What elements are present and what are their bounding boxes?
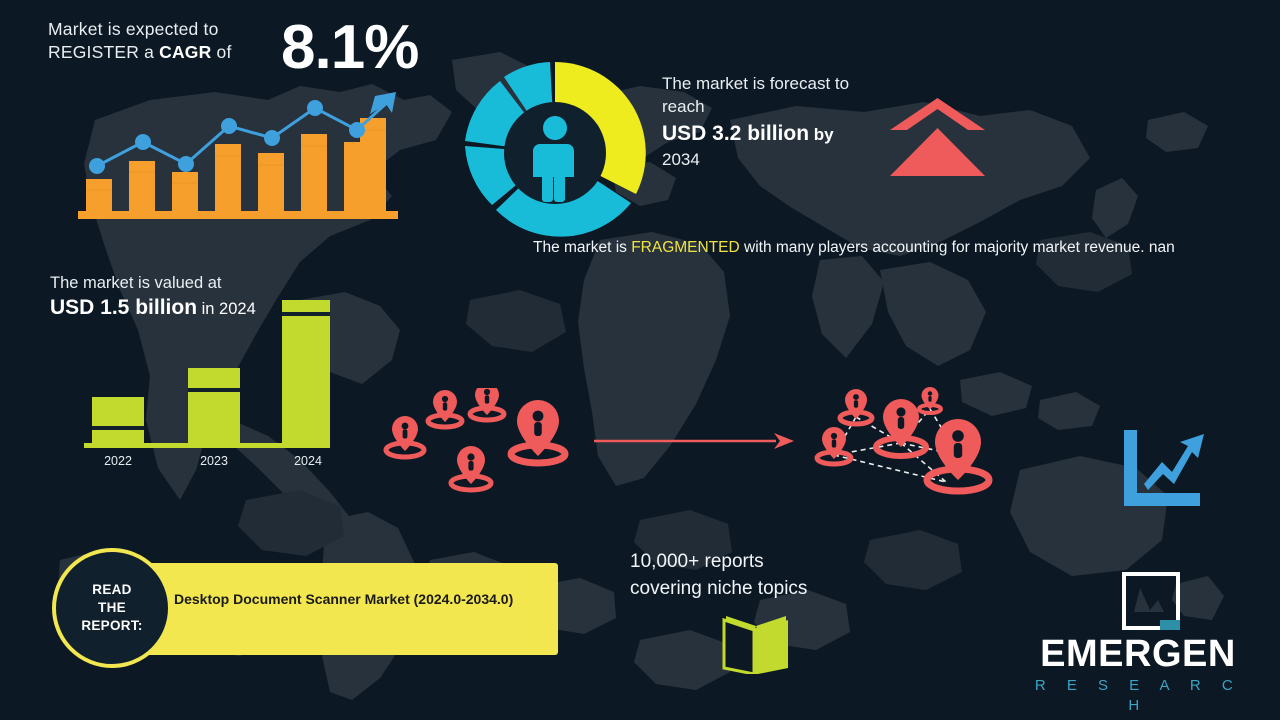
bar-2022 [92,397,144,445]
x-tick-2022: 2022 [104,454,132,468]
orange-growth-bar-chart [70,80,415,230]
forecast-value: USD 3.2 billion by [662,120,892,149]
open-book-icon [718,612,794,674]
x-tick-2024: 2024 [294,454,322,468]
forecast-year: 2034 [662,149,892,171]
logo-wordmark: EMERGEN [1020,632,1256,676]
green-bars [92,300,330,445]
fragmented-highlight: FRAGMENTED [631,239,740,256]
forecast-caption: The market is forecast to reach [662,72,892,118]
map-pins-scattered [383,388,578,493]
reports-count-line-1: 10,000+ reports [630,548,920,575]
cagr-line-1: Market is expected to [48,18,232,41]
cagr-line-2: REGISTER a CAGR of [48,41,232,64]
logo-subtitle: R E S E A R C H [1020,676,1256,716]
read-the-report-badge[interactable]: READ THE REPORT: [52,548,172,668]
valued-caption: The market is valued at [50,272,380,294]
cagr-keyword: CAGR [159,42,211,62]
market-share-donut-chart [460,58,650,248]
read-the-report-bar[interactable]: Desktop Document Scanner Market (2024.0-… [128,563,558,655]
fragmented-pre: The market is [533,239,631,256]
infographic-canvas: Market is expected to REGISTER a CAGR of… [0,0,1280,720]
x-tick-2023: 2023 [200,454,228,468]
map-pin-person-icon [470,388,504,420]
chart-baseline [78,211,398,219]
cagr-block: Market is expected to REGISTER a CAGR of… [48,18,468,64]
map-pin-person-icon [927,419,989,491]
growth-chart-icon [1118,424,1206,512]
cagr-value: 8.1% [281,16,418,80]
cagr-line2-post: of [211,42,231,62]
orange-bars [86,118,386,211]
reports-count-line-2: covering niche topics [630,575,920,602]
read-label-line1: READ [81,581,142,599]
read-label-line3: REPORT: [81,617,142,635]
map-pin-person-icon [511,400,565,463]
square-logo-mark [1120,570,1182,632]
forecast-by: by [809,125,834,144]
emergen-research-logo: EMERGEN R E S E A R C H [1020,570,1256,702]
cagr-line2-pre: REGISTER a [48,42,159,62]
map-pin-person-icon [451,446,491,490]
reports-count-block: 10,000+ reports covering niche topics [630,548,920,602]
map-pin-person-icon [428,390,462,427]
read-label-line2: THE [81,599,142,617]
green-market-value-chart: 2022 2023 2024 [70,295,330,470]
forecast-amount: USD 3.2 billion [662,122,809,145]
fragmented-post: with many players accounting for majorit… [740,239,1175,256]
map-pin-person-icon [386,416,424,457]
map-pin-person-icon [840,389,872,424]
bar-2024 [282,300,330,445]
right-arrow-icon [594,428,794,454]
forecast-block: The market is forecast to reach USD 3.2 … [662,72,892,171]
fragmented-statement: The market is FRAGMENTED with many playe… [533,236,1213,260]
map-pin-person-icon [919,387,941,413]
up-arrows-icon [890,98,985,176]
chart-baseline [84,443,330,448]
read-the-report-label: READ THE REPORT: [81,581,142,635]
bar-2023 [188,368,240,445]
map-pins-network [806,385,1011,505]
report-title: Desktop Document Scanner Market (2024.0-… [174,585,514,613]
